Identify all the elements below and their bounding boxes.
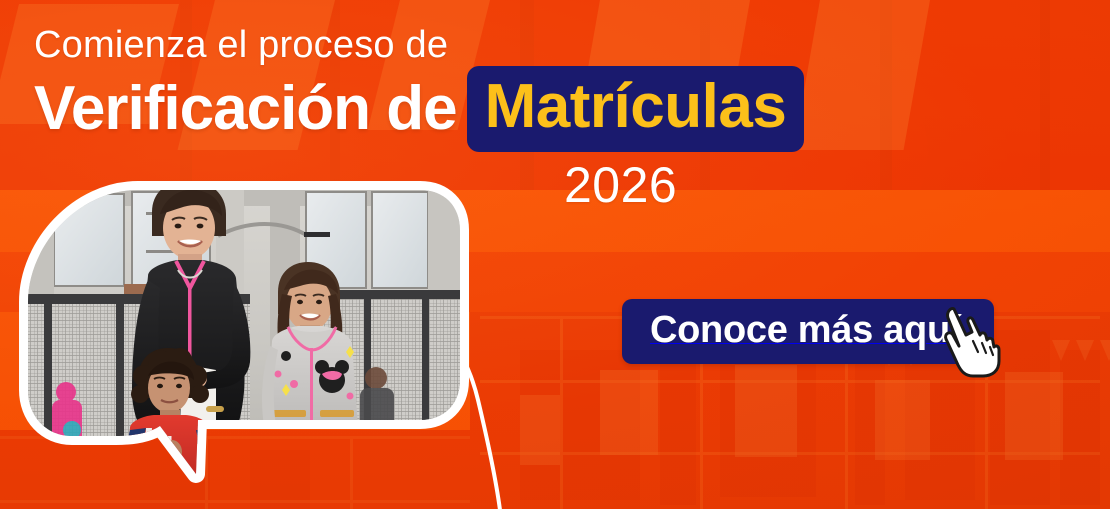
- headline-line-2: Verificación de Matrículas: [34, 66, 804, 152]
- headline-year: 2026: [564, 156, 804, 214]
- photo-speech-bubble: [20, 184, 490, 484]
- headline-highlight-text: Matrículas: [485, 72, 787, 142]
- headline-line-2-text: Verificación de: [34, 70, 457, 148]
- headline-line-1: Comienza el proceso de: [34, 22, 804, 68]
- promo-banner: Comienza el proceso de Verificación de M…: [0, 0, 1110, 509]
- cta-label: Conoce más aquí: [650, 309, 960, 351]
- headline-highlight-box: Matrículas: [467, 66, 805, 152]
- conoce-mas-aqui-button[interactable]: Conoce más aquí: [622, 299, 994, 364]
- headline-group: Comienza el proceso de Verificación de M…: [34, 22, 804, 214]
- cta-group: Conoce más aquí: [622, 299, 994, 364]
